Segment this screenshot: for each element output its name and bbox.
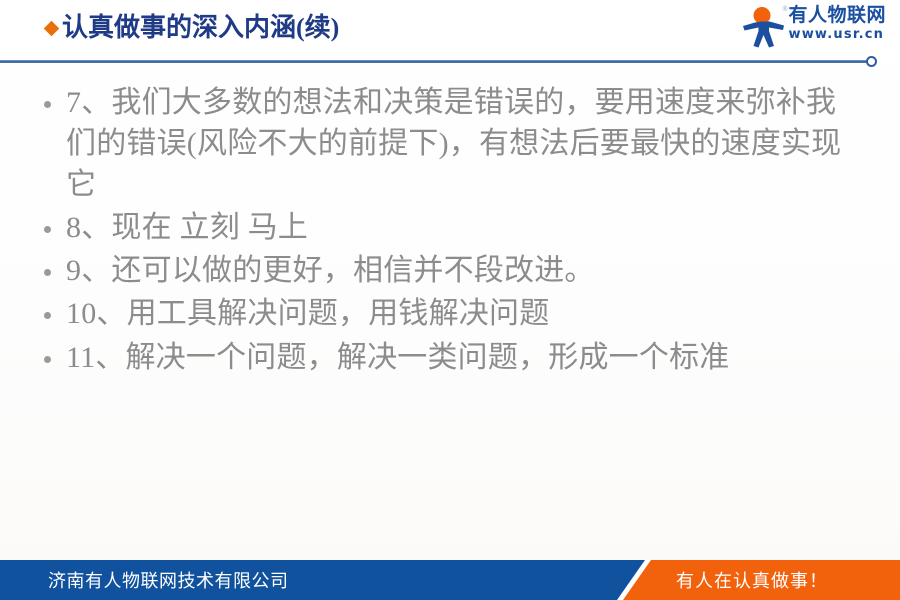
round-bullet-icon (44, 101, 51, 108)
header-divider (0, 60, 872, 63)
list-item-label: 9、还可以做的更好，相信并不段改进。 (66, 250, 595, 291)
usr-logo[interactable]: ® 有人物联网 www.usr.cn (740, 6, 886, 52)
round-bullet-icon (44, 269, 51, 276)
round-bullet-icon (44, 226, 51, 233)
list-item-label: 7、我们大多数的想法和决策是错误的，要用速度来弥补我们的错误(风险不大的前提下)… (66, 82, 864, 205)
list-item-label: 10、用工具解决问题，用钱解决问题 (66, 293, 549, 334)
logo-company-name: 有人物联网 (788, 6, 886, 26)
list-item: 9、还可以做的更好，相信并不段改进。 (44, 250, 864, 291)
list-item: 8、现在 立刻 马上 (44, 207, 864, 248)
list-item: 11、解决一个问题，解决一类问题，形成一个标准 (44, 337, 864, 378)
logo-website-url: www.usr.cn (788, 28, 886, 42)
list-item: 10、用工具解决问题，用钱解决问题 (44, 293, 864, 334)
slide-footer: 济南有人物联网技术有限公司 有人在认真做事！ (0, 560, 900, 600)
slide-canvas: 认真做事的深入内涵(续) ® 有人物联网 www.usr.cn 7、我们大多数的… (0, 0, 900, 600)
list-item: 7、我们大多数的想法和决策是错误的，要用速度来弥补我们的错误(风险不大的前提下)… (44, 82, 864, 205)
page-title: 认真做事的深入内涵(续) (62, 14, 339, 43)
slide-body: 7、我们大多数的想法和决策是错误的，要用速度来弥补我们的错误(风险不大的前提下)… (44, 82, 864, 380)
registered-trademark-icon: ® (782, 6, 787, 13)
footer-slogan: 有人在认真做事！ (676, 560, 828, 600)
diamond-bullet-icon (44, 21, 60, 37)
logo-wordmark: 有人物联网 www.usr.cn (788, 6, 886, 42)
usr-person-logo-icon: ® (740, 6, 786, 48)
list-item-label: 8、现在 立刻 马上 (66, 207, 308, 248)
round-bullet-icon (44, 356, 51, 363)
footer-company-name: 济南有人物联网技术有限公司 (48, 560, 289, 600)
header-divider-endpoint-icon (866, 56, 877, 67)
list-item-label: 11、解决一个问题，解决一类问题，形成一个标准 (66, 337, 730, 378)
slide-header: 认真做事的深入内涵(续) ® 有人物联网 www.usr.cn (0, 0, 900, 66)
slide-title-row: 认真做事的深入内涵(续) (46, 14, 339, 43)
round-bullet-icon (44, 312, 51, 319)
